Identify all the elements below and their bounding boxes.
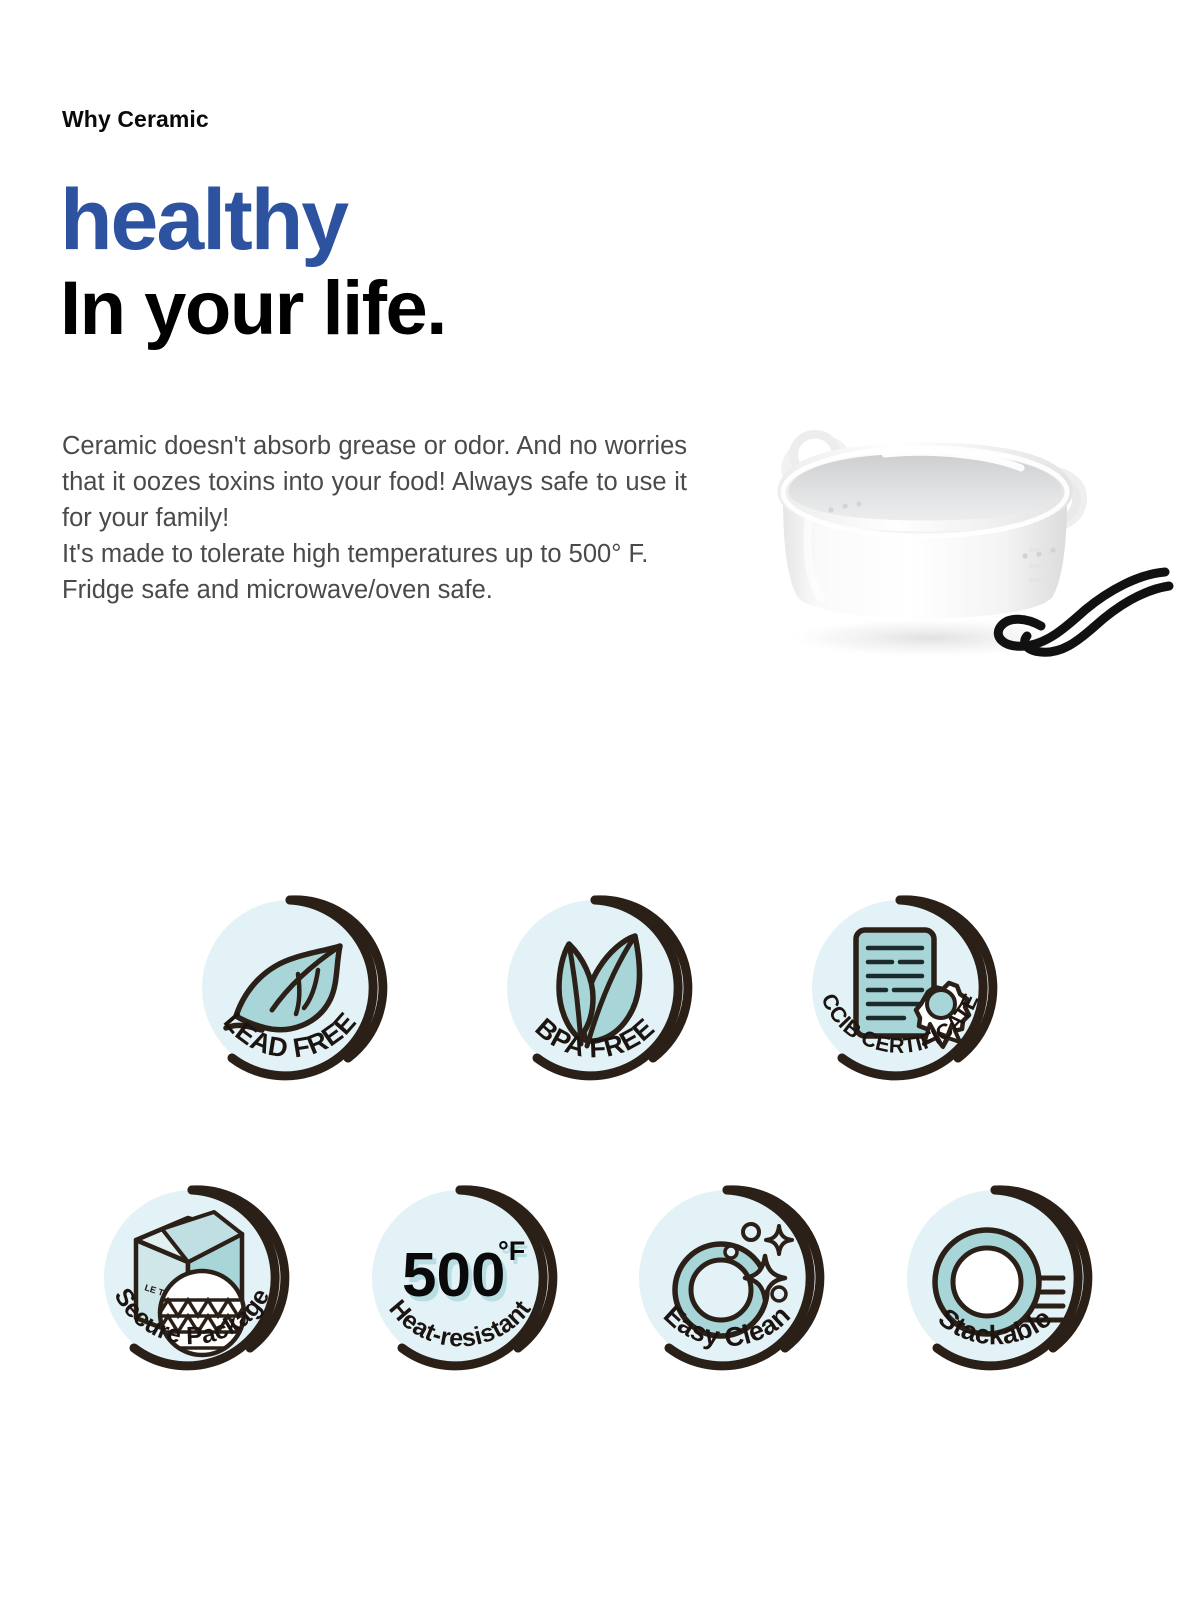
ceramic-bowl-illustration [735, 400, 1175, 690]
badge-secure-package[interactable]: LE TALO Secure Package [92, 1178, 292, 1393]
badge-heat-resistant[interactable]: 500 500 °F °F Heat-resistant [360, 1178, 560, 1393]
badge-easy-clean[interactable]: Easy Clean [627, 1178, 827, 1393]
body-copy: Ceramic doesn't absorb grease or odor. A… [62, 428, 687, 608]
badge-bpa-free[interactable]: BPA FREE [495, 888, 695, 1103]
badge-row-primary: LEAD FREE BPA FREE [0, 888, 1200, 1118]
temperature-value: 500 [402, 1241, 505, 1310]
headline-accent-word: healthy [60, 178, 740, 262]
headline-main-text: In your life. [60, 270, 740, 348]
badge-stackable[interactable]: Stackable [895, 1178, 1095, 1393]
badge-ccib-certificate[interactable]: CCIB CERTIFICATE [800, 888, 1000, 1103]
product-photo [735, 400, 1175, 690]
body-paragraph-1: Ceramic doesn't absorb grease or odor. A… [62, 428, 687, 536]
page-title: healthy In your life. [60, 178, 740, 348]
badge-lead-free[interactable]: LEAD FREE [190, 888, 390, 1103]
hero-section: Why Ceramic healthy In your life. Cerami… [0, 0, 1200, 860]
badge-row-secondary: LE TALO Secure Package [0, 1178, 1200, 1408]
eyebrow-label: Why Ceramic [62, 106, 209, 133]
body-paragraph-2: It's made to tolerate high temperatures … [62, 536, 687, 608]
temperature-unit: °F [498, 1236, 525, 1266]
